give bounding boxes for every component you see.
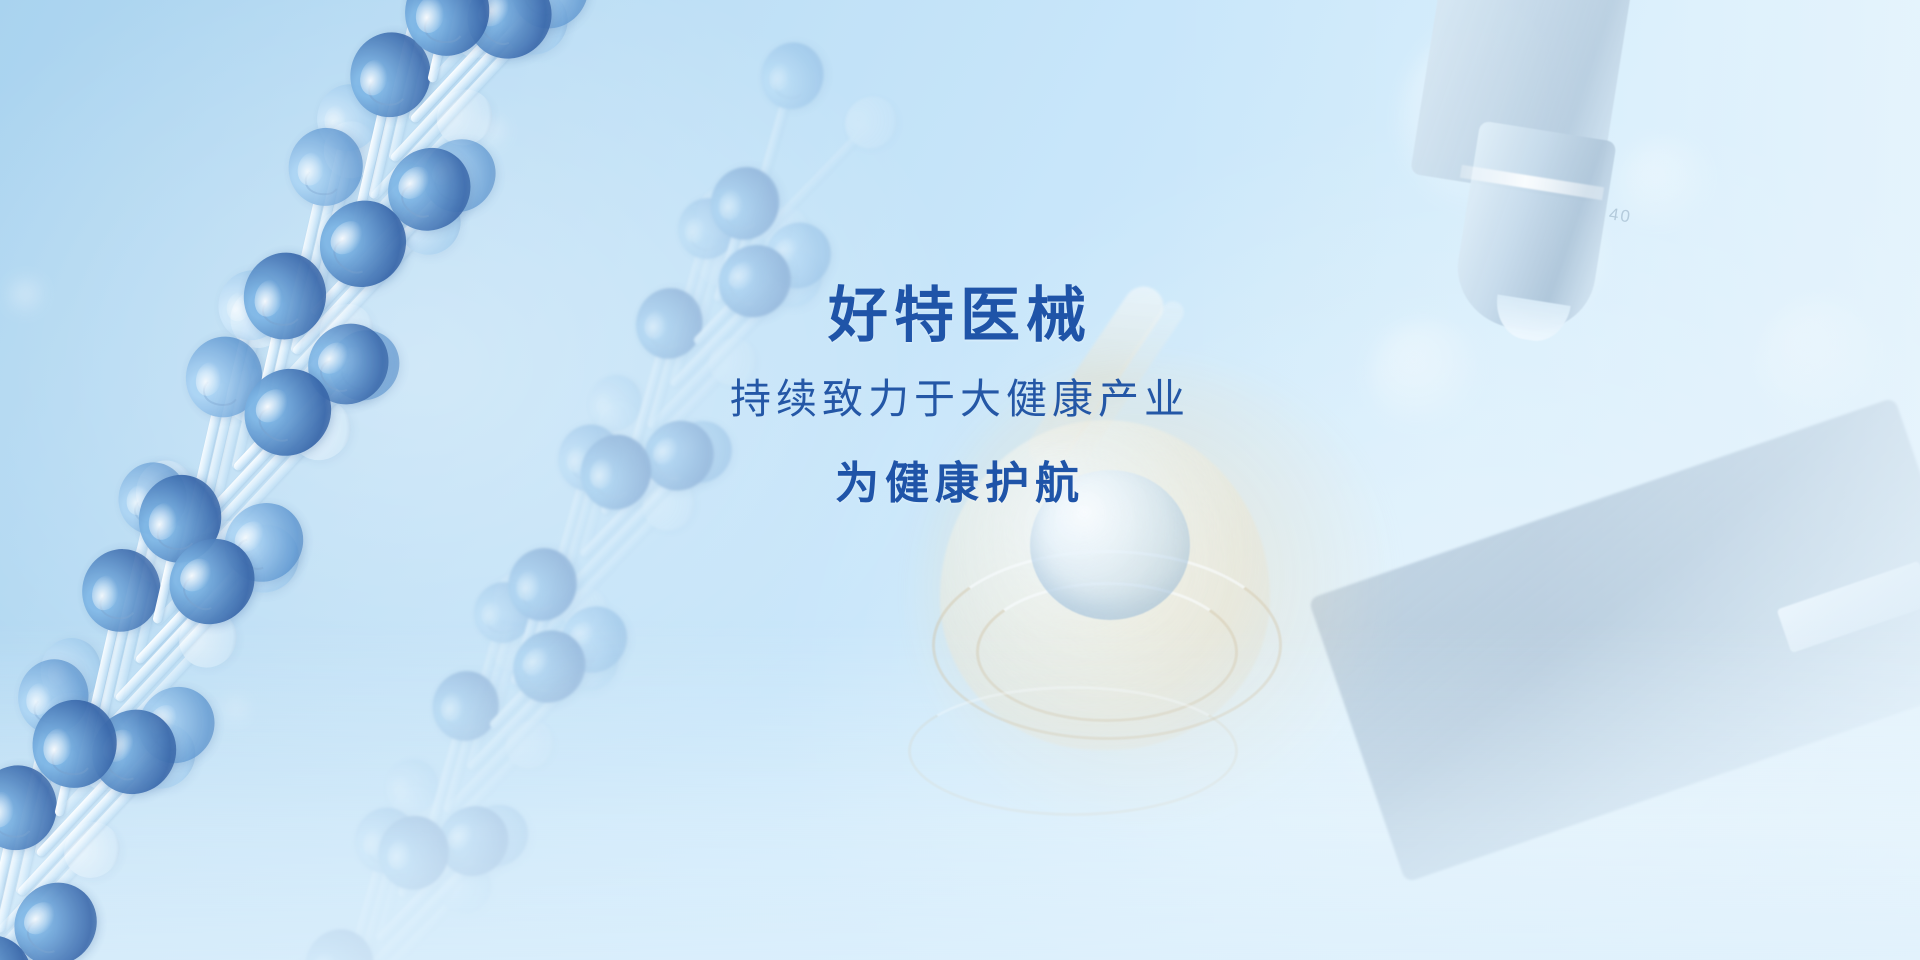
- dna-rung: [327, 243, 364, 281]
- hero-banner: 40 好特医械 持续致力于大健康产业 为健康护航: [0, 0, 1920, 960]
- dna-nucleotide-bead: [753, 35, 831, 116]
- banner-slogan: 为健康护航: [0, 458, 1920, 511]
- bottom-haze-overlay: [0, 620, 1920, 960]
